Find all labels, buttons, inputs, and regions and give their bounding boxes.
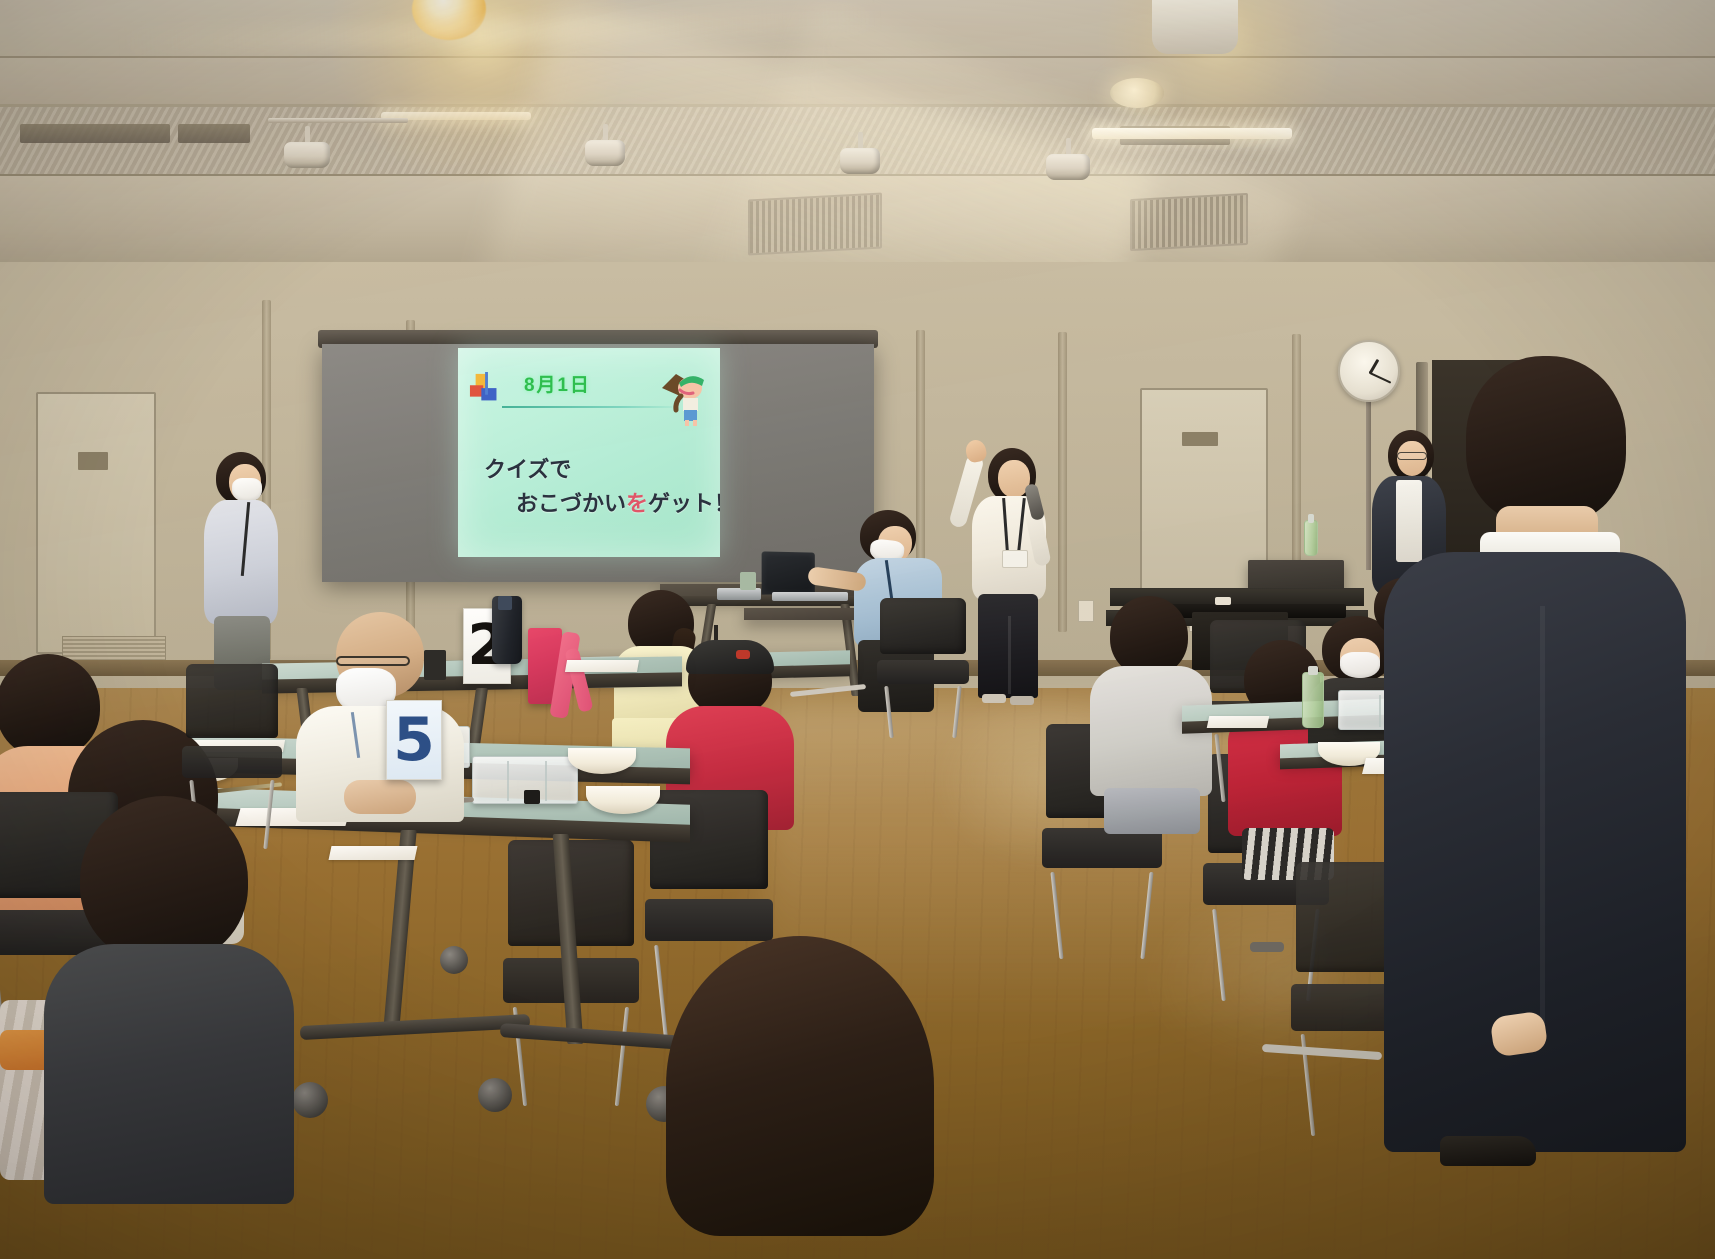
green-tea-bottle: [1302, 672, 1324, 728]
child-with-hat-cartoon-icon: [656, 366, 712, 428]
chair[interactable]: [186, 664, 278, 796]
shoe: [982, 694, 1006, 703]
trouser-crease: [1008, 616, 1011, 694]
spotlight-head: [1046, 154, 1090, 180]
room-photo-scene: 8月1日 クイズで おこづかいをゲット！: [0, 0, 1715, 1259]
box-divider: [1379, 695, 1381, 727]
table-number-card-5: 5: [386, 700, 442, 780]
chair-seat: [182, 746, 281, 778]
bottle-cap: [1308, 514, 1314, 523]
laptop-screen[interactable]: [762, 551, 815, 594]
box-divider: [507, 761, 509, 801]
table-caster: [440, 946, 468, 974]
suit-seam: [1540, 606, 1545, 1026]
track-spotlight: [585, 124, 625, 166]
cap-logo: [736, 650, 750, 659]
dress-shoe: [1440, 1136, 1536, 1166]
track-spotlight: [840, 132, 880, 174]
light-track-rail: [268, 118, 408, 123]
door-sign: [1182, 432, 1218, 446]
chair-back: [186, 664, 278, 738]
cap: [686, 640, 774, 674]
spotlight-head: [284, 142, 330, 168]
slide-headline-accent: を: [626, 491, 648, 516]
projected-slide: 8月1日 クイズで おこづかいをゲット！: [458, 348, 720, 557]
tumbler-lid-latch: [498, 596, 512, 610]
door-left: [36, 392, 156, 654]
ceiling-air-grille: [1130, 193, 1248, 251]
hands: [344, 780, 416, 814]
face-mask: [232, 478, 262, 502]
staff-standing-left: [196, 452, 292, 690]
slide-date: 8月1日: [524, 370, 591, 397]
pendant-shade: [1152, 0, 1238, 54]
tube-light: [1092, 128, 1292, 139]
slide-divider-rule: [502, 406, 672, 408]
chair[interactable]: [880, 598, 966, 698]
slide-headline-line-1: クイズで: [484, 452, 571, 484]
worksheet-paper[interactable]: [329, 846, 418, 860]
paper-cup: [1215, 597, 1231, 605]
table-caster: [292, 1082, 328, 1118]
track-spotlight: [1046, 138, 1090, 182]
green-tea-bottle: [1304, 520, 1318, 556]
small-plant: [740, 572, 756, 590]
suit-jacket: [1384, 552, 1686, 1152]
adult-dark-cardigan: [44, 796, 294, 1196]
track-spotlight: [284, 126, 330, 172]
name-badge: [1002, 550, 1028, 568]
glasses-icon: [336, 656, 410, 666]
soffit-vent: [20, 124, 170, 143]
slide-headline-line-2: おこづかいをゲット！: [516, 486, 720, 518]
shorts: [1104, 788, 1200, 834]
hair: [80, 796, 248, 964]
chair-back: [880, 598, 966, 654]
worksheet-paper[interactable]: [565, 660, 639, 672]
foreground-head: [666, 936, 934, 1259]
slide-headline-tail: ゲット！: [648, 491, 720, 516]
man-in-suit-foreground: [1388, 356, 1688, 1156]
ceiling-band-upper: [0, 0, 1715, 58]
worksheet-paper[interactable]: [1207, 716, 1270, 728]
chair-seat: [645, 899, 772, 941]
hair: [666, 936, 934, 1236]
box-divider: [545, 761, 547, 801]
shoe: [1010, 696, 1034, 705]
ceiling-can-light: [1110, 78, 1164, 108]
slide-headline-main: おこづかい: [516, 491, 626, 516]
chair-seat: [877, 660, 970, 684]
table-caster: [478, 1078, 512, 1112]
hair: [1466, 356, 1626, 524]
soffit-vent: [178, 124, 250, 143]
hair: [1110, 596, 1188, 676]
spotlight-head: [840, 148, 880, 174]
spotlight-head: [585, 140, 625, 166]
ceiling-band-lower: [0, 58, 1715, 110]
dark-cardigan: [44, 944, 294, 1204]
bottle-cap: [1308, 666, 1318, 675]
ceiling-air-grille: [748, 192, 882, 255]
slide-decoration-icon: [468, 372, 506, 408]
door-sign: [78, 452, 108, 470]
sandal: [1250, 942, 1284, 952]
box-latch: [524, 790, 540, 804]
